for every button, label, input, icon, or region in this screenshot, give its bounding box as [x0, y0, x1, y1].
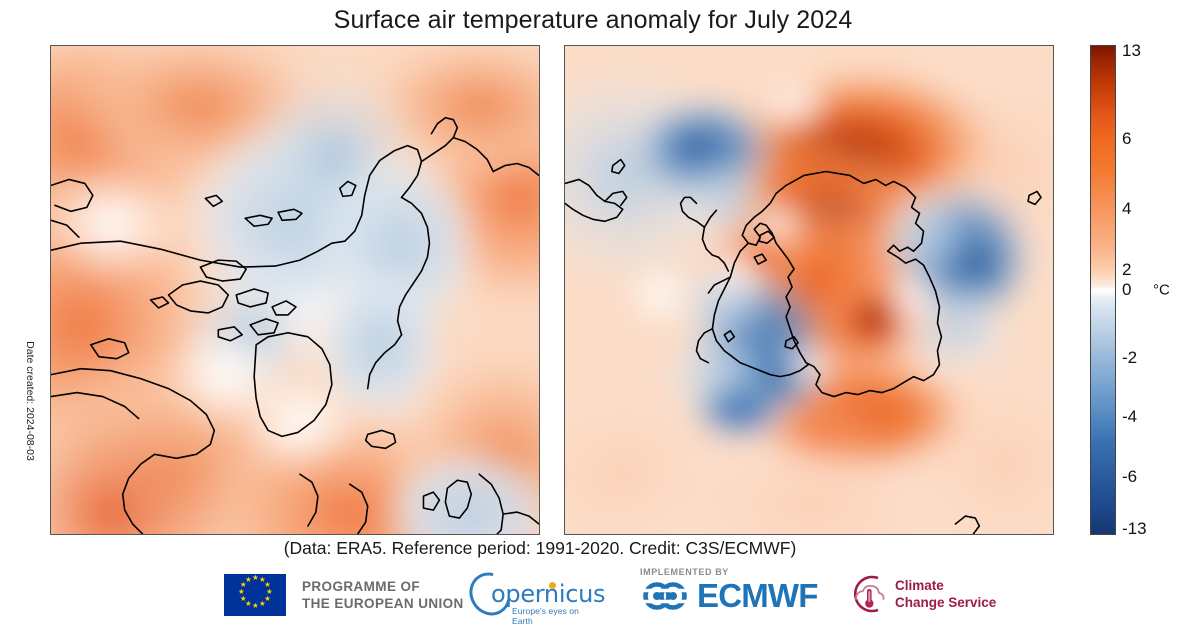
page-title: Surface air temperature anomaly for July…: [0, 6, 1186, 35]
eu-logo: PROGRAMME OF THE EUROPEAN UNION: [224, 574, 464, 616]
colorbar-tick-13: 13: [1122, 41, 1141, 61]
arctic-coastline: [51, 46, 539, 534]
colorbar-tick-neg2: -2: [1122, 348, 1137, 368]
antarctic-coastline: [565, 46, 1053, 534]
colorbar-unit-label: °C: [1153, 282, 1170, 299]
map-panel-antarctic[interactable]: [564, 45, 1054, 535]
c3s-thermometer-cloud-icon: [845, 573, 889, 615]
colorbar-tick-0: 0: [1122, 280, 1131, 300]
colorbar-tick-neg4: -4: [1122, 407, 1137, 427]
ecmwf-logo: IMPLEMENTED BY: [640, 567, 818, 613]
colorbar-tick-6: 6: [1122, 129, 1131, 149]
eu-logo-text: PROGRAMME OF THE EUROPEAN UNION: [302, 578, 464, 612]
eu-logo-line2: THE EUROPEAN UNION: [302, 595, 464, 612]
copernicus-dot-icon: [549, 582, 556, 589]
copernicus-tagline: Europe's eyes on Earth: [512, 606, 598, 626]
colorbar-tick-neg6: -6: [1122, 467, 1137, 487]
ecmwf-wordmark: ECMWF: [697, 579, 818, 613]
c3s-logo: Climate Change Service: [845, 573, 996, 615]
date-created-label: Date created: 2024-08-03: [24, 311, 36, 491]
colorbar-gradient: [1090, 45, 1116, 535]
colorbar-tick-2: 2: [1122, 260, 1131, 280]
c3s-logo-line1: Climate: [895, 577, 996, 594]
map-panel-arctic[interactable]: [50, 45, 540, 535]
ecmwf-implemented-by-label: IMPLEMENTED BY: [640, 567, 818, 577]
ecmwf-swirl-icon: [640, 579, 694, 613]
colorbar: 13 6 4 2 0 -2 -4 -6 -13 °C: [1090, 45, 1186, 535]
eu-flag-icon: [224, 574, 286, 616]
eu-logo-line1: PROGRAMME OF: [302, 578, 464, 595]
colorbar-tick-4: 4: [1122, 199, 1131, 219]
climate-figure: Surface air temperature anomaly for July…: [0, 0, 1186, 633]
footer-logos: PROGRAMME OF THE EUROPEAN UNION opernicu…: [0, 567, 1186, 633]
c3s-logo-line2: Change Service: [895, 594, 996, 611]
colorbar-tick-neg13: -13: [1122, 519, 1147, 539]
figure-caption: (Data: ERA5. Reference period: 1991-2020…: [0, 538, 1080, 559]
c3s-logo-text: Climate Change Service: [895, 577, 996, 611]
copernicus-logo: opernicus Europe's eyes on Earth: [470, 571, 598, 619]
